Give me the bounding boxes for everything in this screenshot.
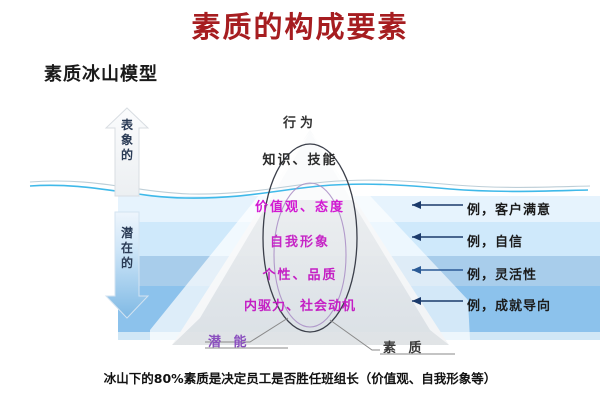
leader-label-quality: 素 质 — [383, 337, 426, 356]
example-label-3: 例，成就导向 — [467, 295, 551, 314]
layer-label-behavior: 行为 — [0, 112, 600, 131]
arrow-up-char-1: 象 — [114, 133, 140, 148]
example-label-0: 例，客户满意 — [467, 199, 551, 218]
example-label-1: 例，自信 — [467, 231, 523, 250]
layer-label-knowledge: 知识、技能 — [0, 149, 600, 168]
footer-caption: 冰山下的80%素质是决定员工是否胜任班组长（价值观、自我形象等） — [0, 368, 600, 387]
leader-label-potential: 潜 能 — [208, 331, 251, 350]
slide-canvas: 素质的构成要素 素质冰山模型 — [0, 0, 600, 401]
example-label-2: 例，灵活性 — [467, 264, 537, 283]
